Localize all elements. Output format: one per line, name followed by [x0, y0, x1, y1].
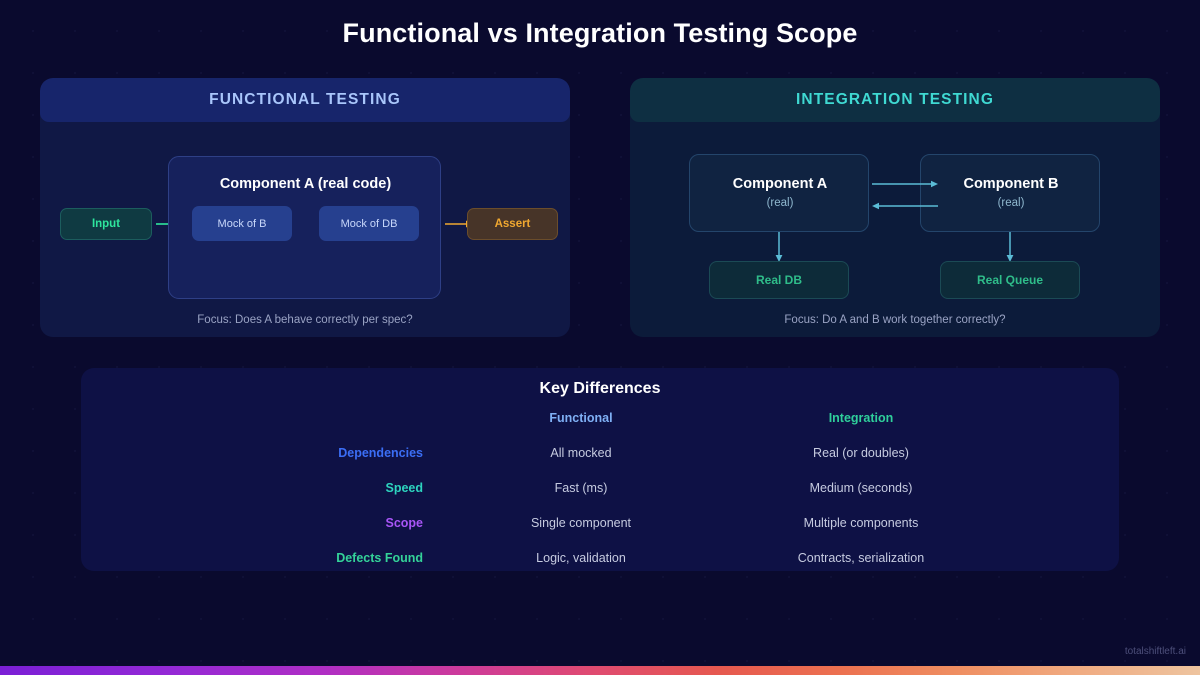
cell-speed-functional: Fast (ms) — [441, 481, 721, 495]
node-input-label: Input — [92, 218, 120, 230]
table-row: Scope Single component Multiple componen… — [81, 505, 1119, 540]
row-label-dependencies: Dependencies — [81, 446, 441, 460]
node-assert-label: Assert — [495, 218, 531, 230]
cell-scope-functional: Single component — [441, 516, 721, 530]
node-assert[interactable]: Assert — [467, 208, 558, 240]
table-row: Speed Fast (ms) Medium (seconds) — [81, 470, 1119, 505]
node-real-db-label: Real DB — [756, 273, 802, 287]
component-a-title: Component A (real code) — [169, 176, 442, 192]
node-component-b[interactable]: Component B (real) — [920, 154, 1100, 232]
slide-canvas: Functional vs Integration Testing Scope … — [0, 0, 1200, 675]
cell-dependencies-functional: All mocked — [441, 446, 721, 460]
row-label-speed: Speed — [81, 481, 441, 495]
cell-dependencies-integration: Real (or doubles) — [721, 446, 1001, 460]
component-a-name: Component A — [690, 176, 870, 192]
cell-defects-integration: Contracts, serialization — [721, 551, 1001, 565]
cell-speed-integration: Medium (seconds) — [721, 481, 1001, 495]
table-row: Dependencies All mocked Real (or doubles… — [81, 435, 1119, 470]
mock-of-b-label: Mock of B — [218, 218, 267, 230]
node-real-db[interactable]: Real DB — [709, 261, 849, 299]
component-a-subtitle: (real) — [690, 197, 870, 209]
arrow-component-a-to-real-db-icon — [773, 232, 785, 262]
row-label-defects-found: Defects Found — [81, 551, 441, 565]
column-header-integration: Integration — [721, 411, 1001, 425]
focus-note-functional: Focus: Does A behave correctly per spec? — [40, 314, 570, 326]
panel-header-functional: FUNCTIONAL TESTING — [40, 78, 570, 122]
focus-note-integration: Focus: Do A and B work together correctl… — [630, 314, 1160, 326]
arrow-component-a-to-b-icon — [872, 179, 938, 189]
component-b-name: Component B — [921, 176, 1101, 192]
column-header-functional: Functional — [441, 411, 721, 425]
watermark: totalshiftleft.ai — [1125, 646, 1186, 657]
key-differences-title: Key Differences — [81, 380, 1119, 398]
component-b-subtitle: (real) — [921, 197, 1101, 209]
row-label-scope: Scope — [81, 516, 441, 530]
key-differences-table: Functional Integration Dependencies All … — [81, 400, 1119, 575]
panel-integration-testing: INTEGRATION TESTING Component A (real) C… — [630, 78, 1160, 337]
node-mock-of-db[interactable]: Mock of DB — [319, 206, 419, 241]
panel-functional-testing: FUNCTIONAL TESTING Input Component A (re… — [40, 78, 570, 337]
node-real-queue-label: Real Queue — [977, 273, 1043, 287]
page-title: Functional vs Integration Testing Scope — [0, 18, 1200, 49]
table-header-row: Functional Integration — [81, 400, 1119, 435]
bottom-gradient-bar — [0, 666, 1200, 675]
node-component-a-real-code: Component A (real code) Mock of B Mock o… — [168, 156, 441, 299]
arrow-component-b-to-a-icon — [872, 201, 938, 211]
panel-header-integration: INTEGRATION TESTING — [630, 78, 1160, 122]
node-mock-of-b[interactable]: Mock of B — [192, 206, 292, 241]
cell-scope-integration: Multiple components — [721, 516, 1001, 530]
cell-defects-functional: Logic, validation — [441, 551, 721, 565]
table-row: Defects Found Logic, validation Contract… — [81, 540, 1119, 575]
arrow-component-b-to-real-queue-icon — [1004, 232, 1016, 262]
node-component-a[interactable]: Component A (real) — [689, 154, 869, 232]
mock-of-db-label: Mock of DB — [341, 218, 398, 230]
node-real-queue[interactable]: Real Queue — [940, 261, 1080, 299]
key-differences-panel: Key Differences Functional Integration D… — [81, 368, 1119, 571]
node-input[interactable]: Input — [60, 208, 152, 240]
